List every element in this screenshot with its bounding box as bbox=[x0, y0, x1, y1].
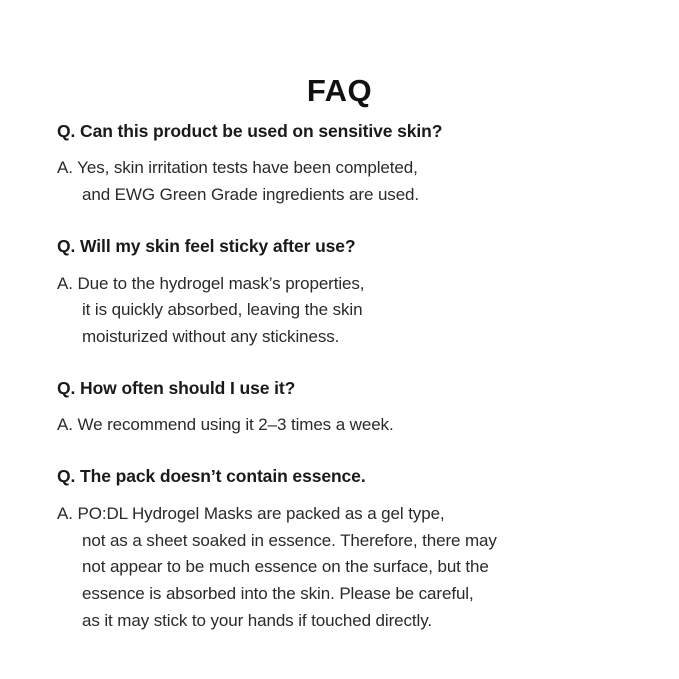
page-title: FAQ bbox=[0, 75, 679, 106]
answer-line: A. We recommend using it 2–3 times a wee… bbox=[57, 412, 637, 439]
answer-line: A. Yes, skin irritation tests have been … bbox=[57, 155, 637, 182]
answer-line: not appear to be much essence on the sur… bbox=[57, 554, 637, 581]
faq-answer: A. Yes, skin irritation tests have been … bbox=[57, 155, 637, 209]
answer-line: it is quickly absorbed, leaving the skin bbox=[57, 297, 637, 324]
answer-line: as it may stick to your hands if touched… bbox=[57, 608, 637, 635]
faq-question: Q. Can this product be used on sensitive… bbox=[57, 120, 637, 142]
faq-page: FAQ Q. Can this product be used on sensi… bbox=[0, 0, 679, 679]
faq-answer: A. Due to the hydrogel mask’s properties… bbox=[57, 271, 637, 352]
faq-item: Q. The pack doesn’t contain essence. A. … bbox=[57, 465, 637, 635]
faq-answer: A. PO:DL Hydrogel Masks are packed as a … bbox=[57, 501, 637, 635]
faq-item: Q. Will my skin feel sticky after use? A… bbox=[57, 235, 637, 351]
faq-item: Q. Can this product be used on sensitive… bbox=[57, 120, 637, 209]
answer-line: not as a sheet soaked in essence. Theref… bbox=[57, 528, 637, 555]
faq-item: Q. How often should I use it? A. We reco… bbox=[57, 377, 637, 439]
answer-line: A. PO:DL Hydrogel Masks are packed as a … bbox=[57, 501, 637, 528]
answer-line: essence is absorbed into the skin. Pleas… bbox=[57, 581, 637, 608]
answer-line: moisturized without any stickiness. bbox=[57, 324, 637, 351]
answer-line: and EWG Green Grade ingredients are used… bbox=[57, 182, 637, 209]
faq-answer: A. We recommend using it 2–3 times a wee… bbox=[57, 412, 637, 439]
faq-question: Q. Will my skin feel sticky after use? bbox=[57, 235, 637, 257]
faq-question: Q. How often should I use it? bbox=[57, 377, 637, 399]
faq-list: Q. Can this product be used on sensitive… bbox=[57, 120, 637, 635]
answer-line: A. Due to the hydrogel mask’s properties… bbox=[57, 271, 637, 298]
faq-question: Q. The pack doesn’t contain essence. bbox=[57, 465, 637, 487]
